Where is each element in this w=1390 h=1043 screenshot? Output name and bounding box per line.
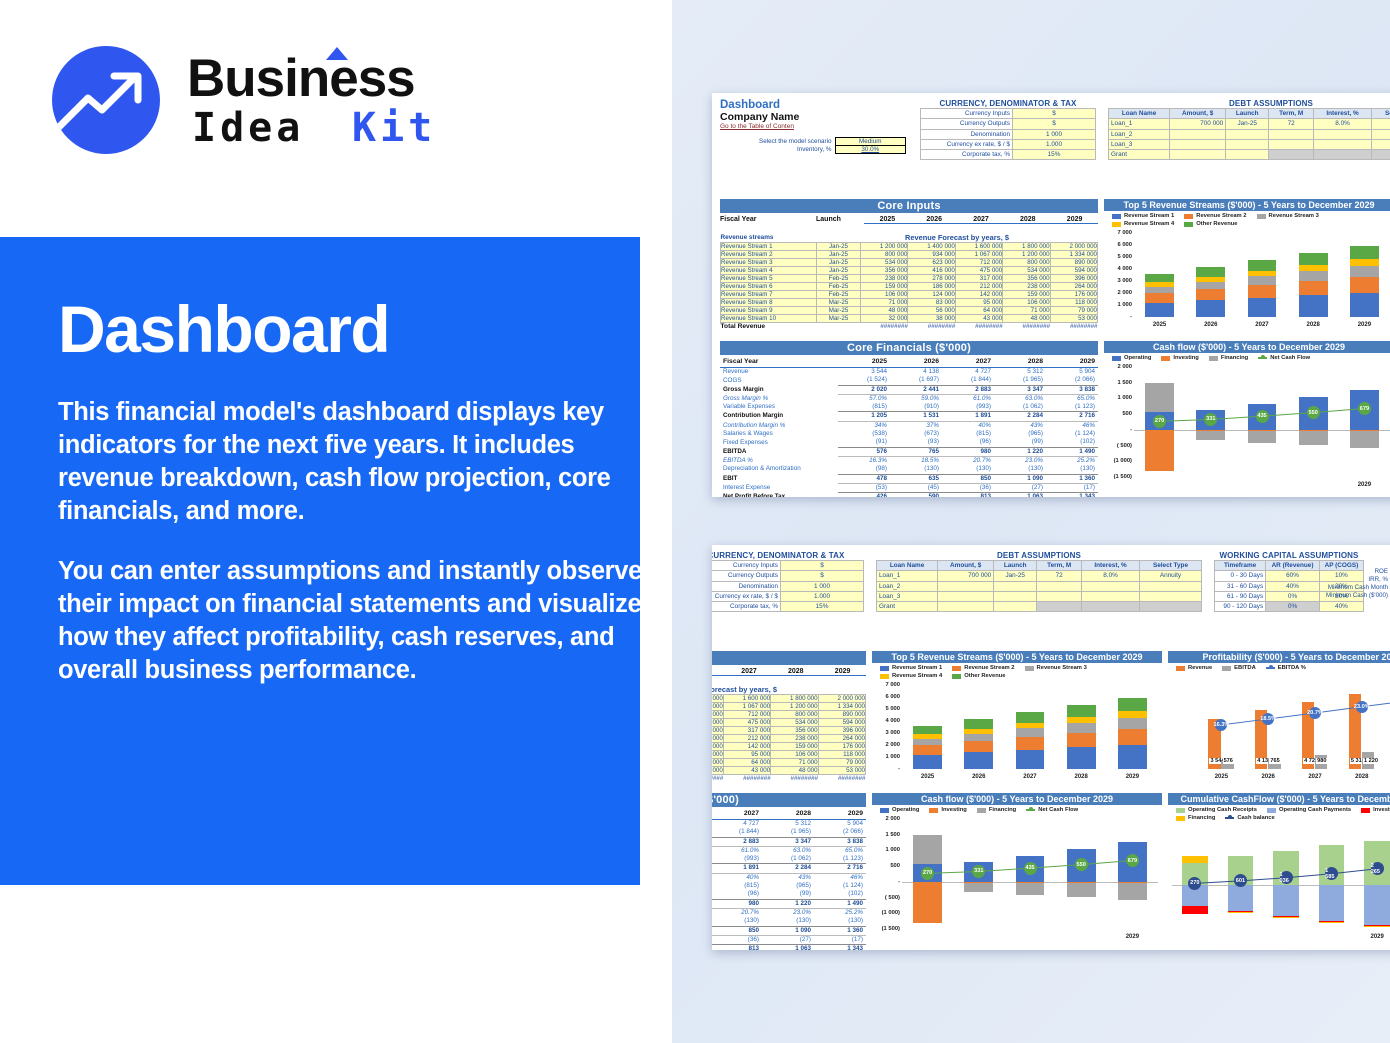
revenue-stream-value[interactable]: 356 000: [771, 727, 818, 735]
financial-row: Gross Margin2 0202 4412 8833 3473 838: [712, 837, 866, 846]
bar-segment: [1350, 277, 1379, 293]
bar-segment: [1145, 274, 1174, 282]
debt-col-header: Select Type: [1139, 561, 1201, 571]
legend-swatch: [1112, 222, 1121, 227]
currency-row-value[interactable]: $: [781, 561, 864, 571]
revenue-stream-value[interactable]: 396 000: [818, 727, 865, 735]
revenue-stream-value[interactable]: 79 000: [818, 759, 865, 767]
y-tick: 1 000: [885, 847, 900, 853]
revenue-forecast-table: Revenue streamsRevenue Forecast by years…: [712, 685, 866, 782]
financial-row-value: (965): [994, 430, 1046, 438]
hero-paragraph-1: This financial model's dashboard display…: [58, 396, 658, 529]
revenue-stream-value[interactable]: 534 000: [771, 719, 818, 727]
x-axis-label: 2028: [1056, 774, 1107, 780]
wc-cell[interactable]: 0 - 30 Days: [1215, 571, 1266, 581]
debt-cell[interactable]: [1371, 129, 1390, 139]
financial-row-value: 18.5%: [890, 456, 942, 465]
revenue-stream-value[interactable]: 159 000: [861, 283, 908, 291]
revenue-stream-value[interactable]: 800 000: [1003, 259, 1050, 267]
financial-row: Gross Margin %57.0%59.0%61.0%63.0%65.0%: [720, 394, 1098, 403]
total-revenue-cell: ########: [771, 775, 818, 783]
debt-cell[interactable]: [994, 591, 1037, 601]
revenue-stream-value[interactable]: 83 000: [908, 299, 955, 307]
debt-cell[interactable]: Annuity: [1371, 119, 1390, 129]
revenue-stream-value[interactable]: 1 334 000: [818, 703, 865, 711]
revenue-stream-value[interactable]: 534 000: [1003, 267, 1050, 275]
currency-row-value[interactable]: 1.000: [1013, 139, 1096, 149]
revenue-stream-value[interactable]: 890 000: [818, 711, 865, 719]
revenue-stream-value[interactable]: 106 000: [861, 291, 908, 299]
legend-swatch: [1112, 356, 1121, 361]
bar-segment: [1196, 300, 1225, 317]
revenue-stream-name[interactable]: Revenue Stream 3: [721, 259, 817, 267]
revenue-stream-value[interactable]: 712 000: [955, 259, 1002, 267]
revenue-stream-value[interactable]: 118 000: [818, 751, 865, 759]
financial-row-value: 2 020: [838, 385, 890, 394]
revenue-stream-name[interactable]: Revenue Stream 7: [721, 291, 817, 299]
debt-cell[interactable]: Grant: [877, 602, 938, 612]
financial-row-value: 65.0%: [814, 846, 866, 855]
debt-cell[interactable]: Loan_1: [877, 571, 938, 581]
revenue-stream-value[interactable]: 38 000: [712, 767, 723, 775]
revenue-stream-launch[interactable]: Mar-25: [817, 299, 861, 307]
wc-cell[interactable]: 61 - 90 Days: [1215, 591, 1266, 601]
revenue-stream-value[interactable]: 212 000: [955, 283, 1002, 291]
revenue-stream-name[interactable]: Revenue Stream 1: [721, 243, 817, 251]
debt-cell[interactable]: [994, 581, 1037, 591]
debt-cell[interactable]: Grant: [1109, 150, 1170, 160]
revenue-stream-value[interactable]: 176 000: [818, 743, 865, 751]
debt-cell[interactable]: 72: [1037, 571, 1082, 581]
revenue-stream-value[interactable]: 95 000: [955, 299, 1002, 307]
revenue-stream-value[interactable]: 1 200 000: [861, 243, 908, 251]
revenue-stream-value[interactable]: 396 000: [1050, 275, 1097, 283]
revenue-stream-value[interactable]: 159 000: [1003, 291, 1050, 299]
financial-row-value: 25.2%: [1046, 456, 1098, 465]
revenue-stream-row: Revenue Stream 5Feb-25238 000278 000317 …: [712, 727, 866, 735]
legend-swatch: [1267, 808, 1276, 813]
chart-bars: 3 54457620254 13876520264 72798020275 31…: [1198, 677, 1390, 769]
line-data-marker: 270: [921, 867, 934, 880]
legend-swatch: [977, 808, 986, 813]
wc-cell[interactable]: 40%: [1319, 602, 1363, 612]
debt-cell[interactable]: Loan_1: [1109, 119, 1170, 129]
financial-row-value: (673): [890, 430, 942, 438]
revenue-stream-value[interactable]: 2 000 000: [1050, 243, 1097, 251]
revenue-stream-value[interactable]: 71 000: [861, 299, 908, 307]
debt-cell[interactable]: [1170, 129, 1226, 139]
debt-cell[interactable]: [938, 591, 994, 601]
revenue-stream-value[interactable]: 48 000: [771, 767, 818, 775]
debt-cell[interactable]: [1037, 602, 1082, 612]
financial-row-label: Revenue: [720, 367, 838, 376]
revenue-stream-value[interactable]: 278 000: [712, 727, 723, 735]
debt-cell[interactable]: [1371, 150, 1390, 160]
revenue-stream-launch[interactable]: Mar-25: [817, 315, 861, 323]
y-tick: -: [898, 879, 900, 885]
line-data-marker: 1 585: [1325, 867, 1338, 880]
chart-plot: 7 0006 0005 0004 0003 0002 0001 000-2025…: [1104, 233, 1390, 317]
currency-row: Currency ex rate, $ / $1.000: [712, 591, 864, 601]
financial-row-value: (93): [890, 438, 942, 447]
revenue-stream-value[interactable]: 712 000: [723, 711, 770, 719]
revenue-stream-value[interactable]: 475 000: [955, 267, 1002, 275]
revenue-stream-value[interactable]: 800 000: [861, 251, 908, 259]
revenue-stream-value[interactable]: 800 000: [771, 711, 818, 719]
revenue-stream-value[interactable]: 106 000: [1003, 299, 1050, 307]
revenue-stream-value[interactable]: 43 000: [723, 767, 770, 775]
launch-label: Launch: [816, 216, 864, 224]
debt-cell[interactable]: [1082, 602, 1140, 612]
legend-swatch: [1361, 808, 1370, 813]
revenue-stream-value[interactable]: 534 000: [861, 259, 908, 267]
chart-plot: 2 0001 5001 000500-( 500)(1 000)(1 500)2…: [872, 819, 1162, 929]
currency-row-value[interactable]: $: [781, 571, 864, 581]
debt-cell[interactable]: 700 000: [1170, 119, 1226, 129]
revenue-stream-name[interactable]: Revenue Stream 5: [721, 275, 817, 283]
debt-cell[interactable]: Annuity: [1139, 571, 1201, 581]
scenario-value[interactable]: Medium: [835, 138, 906, 146]
revenue-stream-launch[interactable]: Feb-25: [817, 275, 861, 283]
legend-label: EBITDA: [1234, 665, 1256, 671]
financial-row-value: 1 891: [942, 412, 994, 421]
revenue-stream-value[interactable]: 186 000: [908, 283, 955, 291]
debt-cell[interactable]: [1139, 602, 1201, 612]
debt-cell[interactable]: [1226, 139, 1269, 149]
revenue-stream-value[interactable]: 416 000: [712, 719, 723, 727]
debt-cell[interactable]: [1037, 591, 1082, 601]
debt-row: Loan_3: [1109, 139, 1390, 149]
total-revenue-cell: ########: [908, 323, 955, 331]
inventory-label: Inventory, %: [720, 146, 835, 154]
revenue-stream-name[interactable]: Revenue Stream 4: [721, 267, 817, 275]
financial-row-value: (1 697): [890, 376, 942, 385]
year-header: 2027: [958, 216, 1005, 224]
currency-row-value[interactable]: 15%: [781, 602, 864, 612]
revenue-stream-value[interactable]: 124 000: [908, 291, 955, 299]
revenue-stream-value[interactable]: 317 000: [723, 727, 770, 735]
kpi-row: Minimum Cash MonthAug-25: [1308, 584, 1390, 592]
currency-row-label: Denomination: [712, 581, 781, 591]
currency-row-value[interactable]: 1.000: [781, 591, 864, 601]
debt-cell[interactable]: 8.0%: [1314, 119, 1372, 129]
wc-cell[interactable]: 31 - 60 Days: [1215, 581, 1266, 591]
y-tick: 5 000: [885, 706, 900, 712]
debt-cell[interactable]: [1371, 139, 1390, 149]
currency-row-value[interactable]: 15%: [1013, 150, 1096, 160]
y-tick: 7 000: [885, 682, 900, 688]
financial-row-value: (36): [942, 483, 994, 492]
currency-row: Denomination1 000: [712, 581, 864, 591]
total-revenue-cell: ########: [1050, 323, 1097, 331]
financial-row: Depreciation & Amortization(98)(130)(130…: [712, 917, 866, 926]
chart-bars: 20292706011 0361 5852 265: [1172, 827, 1390, 929]
financial-row-value: (98): [838, 465, 890, 474]
chart-legend: OperatingInvestingFinancingNet Cash Flow: [1104, 353, 1390, 362]
revenue-stream-value[interactable]: 1 200 000: [1003, 251, 1050, 259]
debt-cell[interactable]: [1082, 581, 1140, 591]
x-axis-label: 2025: [902, 774, 953, 780]
financial-row-value: 2 716: [1046, 412, 1098, 421]
revenue-stream-value[interactable]: 95 000: [723, 751, 770, 759]
debt-cell[interactable]: [994, 602, 1037, 612]
currency-row-value[interactable]: $: [1013, 109, 1096, 119]
revenue-stream-value[interactable]: 83 000: [712, 751, 723, 759]
total-revenue-cell: ########: [712, 775, 723, 783]
revenue-stream-value[interactable]: 1 067 000: [723, 703, 770, 711]
chart-cash-flow: Cash flow ($'000) - 5 Years to December …: [872, 793, 1162, 943]
debt-cell[interactable]: [1226, 150, 1269, 160]
wc-cell[interactable]: 0%: [1266, 602, 1320, 612]
debt-cell[interactable]: Jan-25: [1226, 119, 1269, 129]
line-data-marker: 270: [1153, 415, 1166, 428]
revenue-stream-value[interactable]: 1 800 000: [1003, 243, 1050, 251]
revenue-stream-value[interactable]: 356 000: [1003, 275, 1050, 283]
revenue-stream-name[interactable]: Revenue Stream 9: [721, 307, 817, 315]
x-axis-label: 2029: [1107, 934, 1158, 940]
debt-cell[interactable]: [1139, 581, 1201, 591]
revenue-stream-value[interactable]: 142 000: [955, 291, 1002, 299]
revenue-stream-value[interactable]: 48 000: [861, 307, 908, 315]
y-tick: 2 000: [1117, 290, 1132, 296]
revenue-stream-name[interactable]: Revenue Stream 2: [721, 251, 817, 259]
logo-word-idea: Idea: [192, 108, 304, 148]
financial-row-value: 1 090: [994, 474, 1046, 483]
debt-cell[interactable]: Loan_3: [877, 591, 938, 601]
legend-label: Revenue Stream 4: [892, 673, 942, 679]
revenue-stream-value[interactable]: 890 000: [1050, 259, 1097, 267]
revenue-stream-value[interactable]: 212 000: [723, 735, 770, 743]
financial-row-value: 1 343: [814, 945, 866, 950]
x-axis-label: 2026: [1185, 322, 1236, 328]
currency-row-value[interactable]: 1 000: [1013, 129, 1096, 139]
legend-item: Investing: [929, 807, 966, 813]
total-revenue-cell: ########: [861, 323, 908, 331]
financial-row-value: (815): [838, 403, 890, 412]
financial-row-value: (130): [890, 465, 942, 474]
revenue-stream-value[interactable]: 124 000: [712, 743, 723, 751]
debt-cell[interactable]: [1170, 139, 1226, 149]
financial-row-value: (1 062): [994, 403, 1046, 412]
revenue-stream-launch[interactable]: Feb-25: [817, 283, 861, 291]
revenue-stream-value[interactable]: 934 000: [712, 703, 723, 711]
revenue-stream-value[interactable]: 623 000: [712, 711, 723, 719]
revenue-stream-value[interactable]: 176 000: [1050, 291, 1097, 299]
debt-cell[interactable]: [1269, 139, 1314, 149]
financial-row: EBITDA5767659801 2201 490: [712, 899, 866, 908]
revenue-stream-value[interactable]: 64 000: [955, 307, 1002, 315]
revenue-stream-name[interactable]: Revenue Stream 8: [721, 299, 817, 307]
revenue-stream-row: Revenue Stream 1Jan-251 200 0001 400 000…: [712, 695, 866, 703]
revenue-stream-value[interactable]: 1 800 000: [771, 695, 818, 703]
debt-cell[interactable]: 8.0%: [1082, 571, 1140, 581]
revenue-stream-value[interactable]: 64 000: [723, 759, 770, 767]
revenue-stream-value[interactable]: 1 600 000: [723, 695, 770, 703]
legend-label: Operating: [892, 807, 919, 813]
financial-row-value: 3 838: [1046, 385, 1098, 394]
debt-cell[interactable]: [1314, 139, 1372, 149]
revenue-stream-value[interactable]: 623 000: [908, 259, 955, 267]
legend-item: Operating: [880, 807, 919, 813]
revenue-stream-value[interactable]: 238 000: [1003, 283, 1050, 291]
financial-row-value: 1 205: [838, 412, 890, 421]
debt-cell[interactable]: Loan_2: [877, 581, 938, 591]
legend-item: Other Revenue: [952, 673, 1005, 679]
financial-row-value: 980: [942, 447, 994, 456]
revenue-stream-value[interactable]: 106 000: [771, 751, 818, 759]
revenue-stream-row: Revenue Stream 9Mar-2548 00056 00064 000…: [712, 759, 866, 767]
revenue-stream-value[interactable]: 264 000: [1050, 283, 1097, 291]
y-tick: 2 000: [1117, 364, 1132, 370]
revenue-stream-value[interactable]: 56 000: [908, 307, 955, 315]
bar-segment: [1299, 271, 1328, 281]
financial-row-value: 34%: [838, 421, 890, 430]
debt-cell[interactable]: [1037, 581, 1082, 591]
legend-swatch: [952, 674, 961, 679]
revenue-stream-value[interactable]: 53 000: [818, 767, 865, 775]
table-of-contents-link[interactable]: Go to the Table of Conten: [720, 123, 910, 130]
core-financials-table: Fiscal Year20252026202720282029Revenue3 …: [720, 358, 1098, 497]
financial-row-value: (130): [762, 917, 814, 926]
debt-cell[interactable]: Loan_2: [1109, 129, 1170, 139]
revenue-stream-value[interactable]: 238 000: [861, 275, 908, 283]
currency-row-value[interactable]: 1 000: [781, 581, 864, 591]
financial-row: Contribution Margin %34%37%40%43%46%: [720, 421, 1098, 430]
bar-segment: [1196, 282, 1225, 289]
legend-item: Revenue Stream 3: [1025, 665, 1087, 671]
revenue-stream-value[interactable]: 32 000: [861, 315, 908, 323]
revenue-stream-value[interactable]: 1 334 000: [1050, 251, 1097, 259]
financial-row-value: (1 123): [814, 855, 866, 864]
debt-cell[interactable]: Loan_3: [1109, 139, 1170, 149]
financial-row-value: (130): [1046, 465, 1098, 474]
financial-row-value: (1 965): [762, 828, 814, 837]
inventory-value[interactable]: 30.0%: [835, 146, 906, 154]
currency-row-value[interactable]: $: [1013, 119, 1096, 129]
revenue-stream-value[interactable]: 1 200 000: [771, 703, 818, 711]
revenue-stream-value[interactable]: 1 400 000: [712, 695, 723, 703]
revenue-stream-value[interactable]: 53 000: [1050, 315, 1097, 323]
revenue-stream-value[interactable]: 2 000 000: [818, 695, 865, 703]
revenue-stream-launch[interactable]: Jan-25: [817, 267, 861, 275]
revenue-stream-value[interactable]: 43 000: [955, 315, 1002, 323]
debt-cell[interactable]: [1314, 150, 1372, 160]
y-axis: 2 0001 5001 000500-( 500)(1 000)(1 500): [872, 819, 902, 929]
financial-row-value: 850: [712, 926, 762, 935]
financial-row-value: 43%: [994, 421, 1046, 430]
revenue-stream-value[interactable]: 1 400 000: [908, 243, 955, 251]
financial-row-label: Contribution Margin %: [720, 421, 838, 430]
kpi-label: ROE: [1308, 568, 1390, 576]
revenue-stream-value[interactable]: 1 600 000: [955, 243, 1002, 251]
revenue-stream-value[interactable]: 356 000: [861, 267, 908, 275]
financial-row-value: 1 063: [762, 945, 814, 950]
revenue-stream-value[interactable]: 278 000: [908, 275, 955, 283]
revenue-stream-value[interactable]: 48 000: [1003, 315, 1050, 323]
debt-cell[interactable]: [938, 581, 994, 591]
debt-cell[interactable]: [1269, 129, 1314, 139]
revenue-stream-value[interactable]: 71 000: [1003, 307, 1050, 315]
revenue-stream-value[interactable]: 79 000: [1050, 307, 1097, 315]
revenue-stream-value[interactable]: 416 000: [908, 267, 955, 275]
debt-cell[interactable]: 72: [1269, 119, 1314, 129]
revenue-stream-value[interactable]: 38 000: [908, 315, 955, 323]
revenue-stream-launch[interactable]: Jan-25: [817, 243, 861, 251]
debt-cell[interactable]: [1170, 150, 1226, 160]
legend-label: Financing: [1188, 815, 1215, 821]
chart-title: Top 5 Revenue Streams ($'000) - 5 Years …: [1104, 199, 1390, 211]
revenue-stream-value[interactable]: 594 000: [1050, 267, 1097, 275]
revenue-stream-launch[interactable]: Feb-25: [817, 291, 861, 299]
financial-row-label: Net Profit Before Tax: [720, 493, 838, 497]
debt-cell[interactable]: [1082, 591, 1140, 601]
legend-item: Revenue Stream 3: [1257, 213, 1319, 219]
debt-cell[interactable]: [938, 602, 994, 612]
financial-row-value: 4 727: [942, 367, 994, 376]
revenue-stream-value[interactable]: 1 067 000: [955, 251, 1002, 259]
legend-label: Revenue: [1188, 665, 1212, 671]
debt-cell[interactable]: [1314, 129, 1372, 139]
revenue-stream-name[interactable]: Revenue Stream 10: [721, 315, 817, 323]
revenue-stream-launch[interactable]: Jan-25: [817, 259, 861, 267]
financial-row-value: 20.7%: [712, 908, 762, 917]
bar-segment: [1299, 265, 1328, 271]
legend-item: Operating: [1112, 355, 1151, 361]
revenue-stream-value[interactable]: 186 000: [712, 735, 723, 743]
fin-year-header: 2028: [994, 358, 1046, 367]
financial-row-value: (53): [838, 483, 890, 492]
revenue-stream-name[interactable]: Revenue Stream 6: [721, 283, 817, 291]
total-revenue-label: Total Revenue: [721, 323, 817, 331]
x-axis-label: 2029: [1354, 934, 1390, 940]
y-tick: 4 000: [1117, 266, 1132, 272]
wc-col-header: Timeframe: [1215, 561, 1266, 571]
financial-row-value: 635: [890, 474, 942, 483]
legend-label: Revenue Stream 2: [964, 665, 1014, 671]
revenue-stream-launch[interactable]: Jan-25: [817, 251, 861, 259]
financial-row-value: 23.0%: [994, 456, 1046, 465]
revenue-stream-value[interactable]: 71 000: [771, 759, 818, 767]
financial-row-label: Gross Margin %: [720, 394, 838, 403]
wc-cell[interactable]: 90 - 120 Days: [1215, 602, 1266, 612]
debt-cell[interactable]: 700 000: [938, 571, 994, 581]
revenue-stream-value[interactable]: 317 000: [955, 275, 1002, 283]
revenue-stream-value[interactable]: 118 000: [1050, 299, 1097, 307]
debt-cell[interactable]: [1139, 591, 1201, 601]
financial-row-value: 813: [712, 945, 762, 950]
debt-cell[interactable]: [1269, 150, 1314, 160]
revenue-stream-value[interactable]: 594 000: [818, 719, 865, 727]
revenue-stream-value[interactable]: 56 000: [712, 759, 723, 767]
revenue-stream-value[interactable]: 475 000: [723, 719, 770, 727]
revenue-stream-value[interactable]: 934 000: [908, 251, 955, 259]
financial-row: Interest Expense(53)(45)(36)(27)(17): [720, 483, 1098, 492]
revenue-stream-value[interactable]: 159 000: [771, 743, 818, 751]
debt-cell[interactable]: Jan-25: [994, 571, 1037, 581]
core-inputs-band: Core Inputs: [712, 651, 866, 665]
revenue-stream-value[interactable]: 238 000: [771, 735, 818, 743]
revenue-stream-launch[interactable]: Mar-25: [817, 307, 861, 315]
revenue-stream-value[interactable]: 264 000: [818, 735, 865, 743]
currency-row: Currency Outputs$: [921, 119, 1096, 129]
debt-cell[interactable]: [1226, 129, 1269, 139]
year-header: 2027: [726, 668, 773, 676]
currency-row: Corporate tax, %15%: [921, 150, 1096, 160]
financial-row-value: 1 360: [1046, 474, 1098, 483]
financial-row: Fixed Expenses(91)(93)(96)(99)(102): [720, 438, 1098, 447]
legend-item: Investing: [1161, 355, 1198, 361]
revenue-stream-value[interactable]: 142 000: [723, 743, 770, 751]
